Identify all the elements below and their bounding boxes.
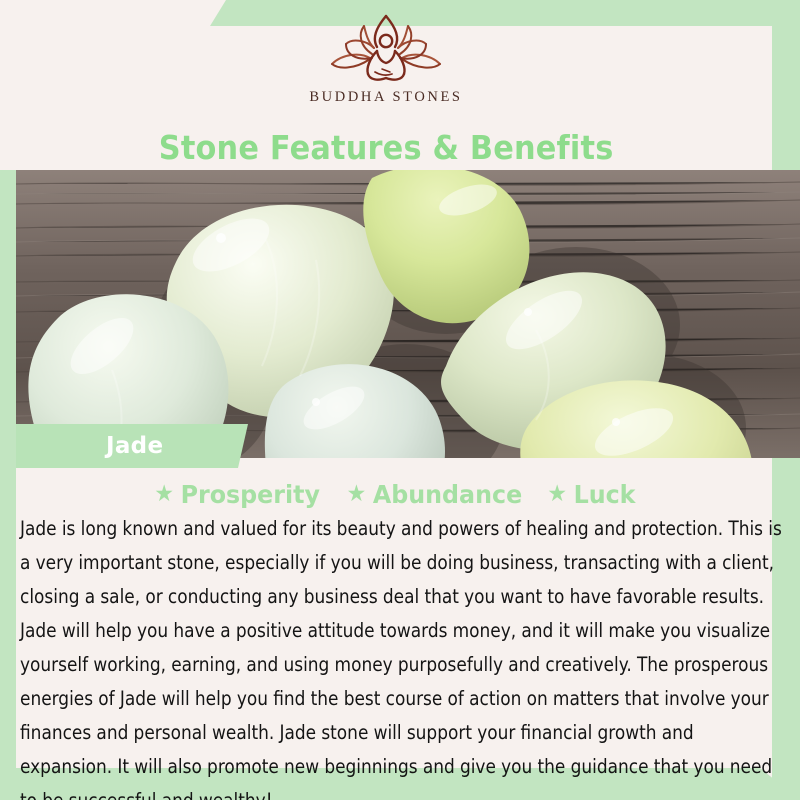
brand-name: BUDDHA STONES	[309, 89, 462, 106]
decorative-left-border	[0, 170, 16, 770]
lotus-meditation-icon	[320, 14, 452, 82]
keyword-luck: ★ Luck	[547, 480, 635, 509]
keyword-prosperity: ★ Prosperity	[154, 480, 320, 509]
keyword-abundance: ★ Abundance	[347, 480, 523, 509]
star-icon: ★	[347, 483, 367, 506]
brand-header: BUDDHA STONES	[0, 14, 772, 106]
keyword-label: Abundance	[373, 480, 522, 509]
headline-banner: Stone Features & Benefits	[0, 124, 772, 170]
poster-canvas: BUDDHA STONES Stone Features & Benefits	[0, 0, 800, 800]
keyword-label: Prosperity	[181, 480, 320, 509]
stone-name-label: Jade	[106, 433, 163, 459]
keyword-label: Luck	[574, 480, 636, 509]
description-text: Jade is long known and valued for its be…	[20, 512, 784, 800]
star-icon: ★	[547, 483, 567, 506]
star-icon: ★	[154, 483, 174, 506]
page-title: Stone Features & Benefits	[159, 128, 614, 167]
keywords-row: ★ Prosperity ★ Abundance ★ Luck	[16, 477, 772, 511]
description-block: Jade is long known and valued for its be…	[16, 512, 788, 800]
jade-stones-photo	[16, 170, 800, 458]
stone-name-badge: Jade	[16, 424, 248, 468]
